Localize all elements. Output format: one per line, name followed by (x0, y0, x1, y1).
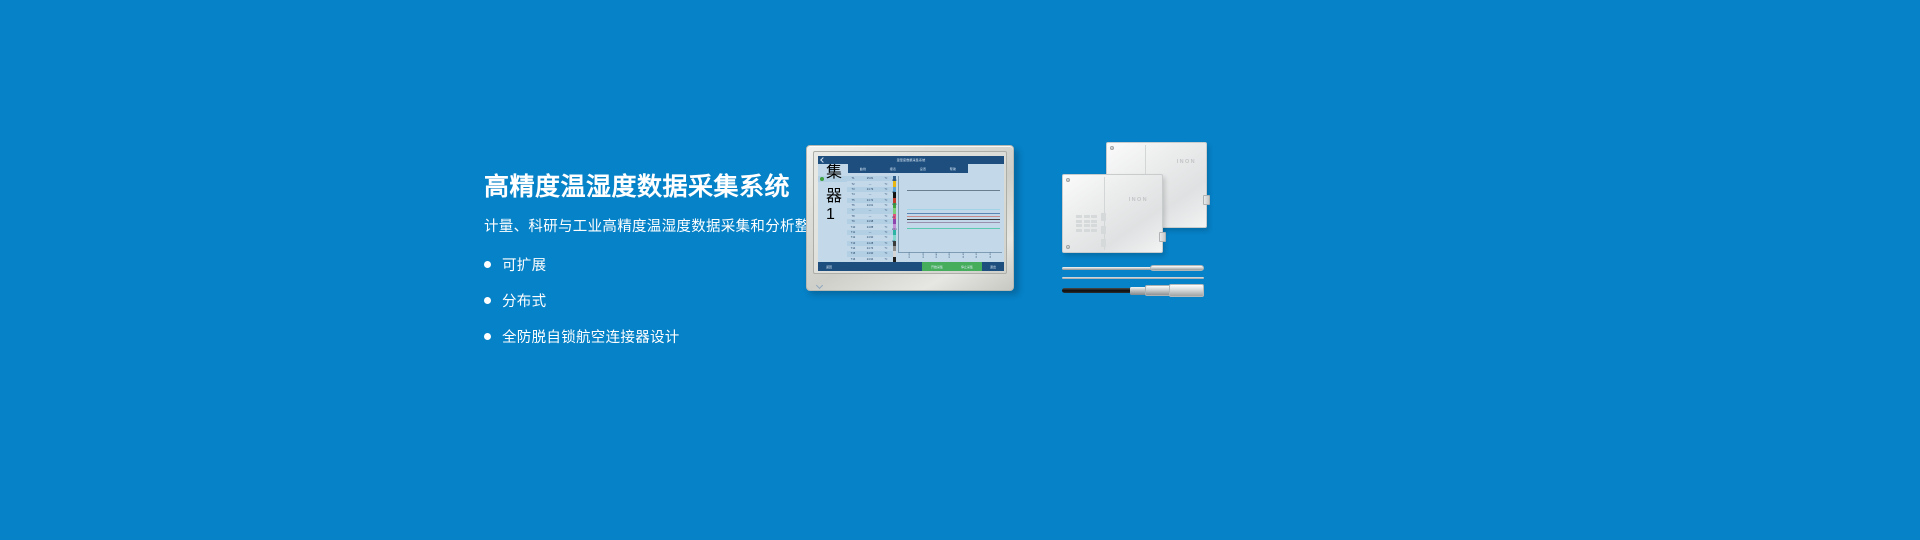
screen-action-bar: 返回 开始采集 停止采集 退出 (818, 262, 1004, 271)
cell-unit: ℃ (881, 204, 891, 207)
device-foot (813, 281, 1007, 290)
cell-value: 24.94 (859, 258, 881, 261)
x-axis-tick: 10:30 (923, 253, 925, 258)
cell-value: — (859, 183, 881, 186)
start-acquisition-button[interactable]: 开始采集 (922, 262, 952, 271)
tab-settings[interactable]: 设置 (908, 164, 938, 173)
cell-unit: ℃ (881, 209, 891, 212)
cell-channel: T3 (847, 188, 859, 191)
y-axis-tick: 25.1 (892, 179, 897, 182)
cell-value: 24.88 (859, 226, 881, 229)
screw-icon (1066, 245, 1070, 249)
y-axis-tick: 24 (892, 216, 895, 219)
cell-value: 25.81 (859, 177, 881, 180)
cell-unit: ℃ (881, 193, 891, 196)
feature-label: 分布式 (502, 290, 546, 311)
cell-channel: T7 (847, 209, 859, 212)
cell-unit: ℃ (881, 183, 891, 186)
cell-channel: T4 (847, 193, 859, 196)
sensor-cable (1062, 276, 1204, 280)
cell-unit: ℃ (881, 231, 891, 234)
cell-unit: ℃ (881, 199, 891, 202)
tree-item-label: 采集器 1 (826, 156, 847, 224)
device-inner-frame: 温湿度数据采集系统 监控 曲线 报表 设置 帮助 采集器 1 (813, 151, 1007, 274)
hardware-group: INON INON (1062, 142, 1207, 297)
screen-titlebar: 温湿度数据采集系统 (818, 156, 1004, 164)
trend-line (907, 219, 1000, 220)
cell-value: 24.73 (859, 247, 881, 250)
trend-line (907, 209, 1000, 210)
trend-chart: 25.12524.12423.12310:2010:3010:4010:5011… (898, 176, 1002, 253)
status-ok-icon (820, 177, 824, 181)
cell-value: 24.79 (859, 188, 881, 191)
cell-unit: ℃ (881, 252, 891, 255)
aviation-connector-cable (1062, 284, 1204, 297)
x-axis-tick: 11:10 (976, 253, 978, 258)
cell-unit: ℃ (881, 220, 891, 223)
cell-value: 24.98 (859, 220, 881, 223)
exit-button[interactable]: 退出 (982, 262, 1004, 271)
trend-line (907, 190, 1000, 191)
list-item: 全防脱自锁航空连接器设计 (484, 326, 904, 347)
cell-value: 24.90 (859, 252, 881, 255)
cell-unit: ℃ (881, 188, 891, 191)
cell-value: 24.28 (859, 242, 881, 245)
cell-channel: T15 (847, 252, 859, 255)
stop-acquisition-button[interactable]: 停止采集 (952, 262, 982, 271)
trend-line (907, 216, 1000, 217)
feature-label: 可扩展 (502, 254, 546, 275)
cell-value: 24.61 (859, 204, 881, 207)
cell-value: — (859, 193, 881, 196)
screen-device-tree: 采集器 1 (818, 173, 847, 262)
bullet-dot-icon (484, 333, 491, 340)
y-axis-tick: 24.1 (892, 203, 897, 206)
probe-tip (1150, 265, 1204, 271)
feature-label: 全防脱自锁航空连接器设计 (502, 326, 680, 347)
connector-shell (1169, 284, 1204, 297)
cell-unit: ℃ (881, 258, 891, 261)
cable-line (1062, 277, 1204, 279)
product-banner: 高精度温湿度数据采集系统 计量、科研与工业高精度温湿度数据采集和分析整体解决方案… (0, 0, 1920, 540)
cell-unit: ℃ (881, 242, 891, 245)
temperature-probe (1062, 264, 1204, 272)
trend-line (907, 228, 1000, 229)
tree-item-collector[interactable]: 采集器 1 (818, 176, 847, 182)
module-connector-icon (1203, 195, 1210, 205)
cell-channel: T16 (847, 258, 859, 261)
cell-channel: T13 (847, 242, 859, 245)
screen-app-title: 温湿度数据采集系统 (818, 158, 1004, 162)
module-brand-label: INON (1177, 159, 1196, 165)
cell-channel: T1 (847, 177, 859, 180)
y-axis-tick: 23.1 (892, 228, 897, 231)
back-button[interactable]: 返回 (818, 262, 840, 271)
bullet-dot-icon (484, 297, 491, 304)
port-label-grid (1101, 213, 1106, 247)
action-bar-spacer (840, 262, 922, 271)
brand-mark-icon (816, 282, 823, 289)
cell-unit: ℃ (881, 226, 891, 229)
screw-icon (1110, 146, 1114, 150)
channel-table: T125.81℃T2—℃T324.79℃T4—℃T524.72℃T624.61℃… (847, 173, 893, 262)
x-axis-tick: 10:40 (936, 253, 938, 258)
cell-channel: T11 (847, 231, 859, 234)
x-axis-tick: 11:00 (963, 253, 965, 258)
tab-bar-filler (968, 164, 1004, 173)
trend-line (907, 222, 1000, 223)
cell-value: — (859, 231, 881, 234)
screen-body: 采集器 1 T125.81℃T2—℃T324.79℃T4—℃T524.72℃T6… (818, 173, 1004, 262)
probe-rod (1062, 267, 1154, 270)
cell-value: — (859, 215, 881, 218)
x-axis-tick: 10:50 (949, 253, 951, 258)
connector-ferrule (1130, 287, 1146, 295)
tab-help[interactable]: 帮助 (938, 164, 968, 173)
acquisition-module-front: INON (1062, 174, 1163, 253)
cell-channel: T14 (847, 247, 859, 250)
cell-channel: T5 (847, 199, 859, 202)
cell-channel: T9 (847, 220, 859, 223)
panel-pc-device: 温湿度数据采集系统 监控 曲线 报表 设置 帮助 采集器 1 (806, 145, 1019, 294)
y-axis-tick: 23 (892, 240, 895, 243)
tab-curve[interactable]: 曲线 (848, 164, 878, 173)
module-connector-icon (1159, 232, 1166, 242)
screw-icon (1066, 178, 1070, 182)
cell-value: — (859, 209, 881, 212)
x-axis-tick: 10:20 (909, 253, 911, 258)
trend-line (907, 213, 1000, 214)
x-axis-tick: 11:20 (990, 253, 992, 258)
cell-channel: T8 (847, 215, 859, 218)
cell-channel: T6 (847, 204, 859, 207)
cell-value: 24.72 (859, 199, 881, 202)
cable-jacket (1062, 288, 1134, 293)
cell-unit: ℃ (881, 236, 891, 239)
connector-barrel (1145, 285, 1171, 296)
cell-value: 24.90 (859, 236, 881, 239)
cell-unit: ℃ (881, 247, 891, 250)
channel-color-legend (893, 176, 896, 262)
y-axis-tick: 25 (892, 191, 895, 194)
bullet-dot-icon (484, 261, 491, 268)
cell-channel: T10 (847, 226, 859, 229)
cell-channel: T2 (847, 183, 859, 186)
cell-unit: ℃ (881, 215, 891, 218)
cell-unit: ℃ (881, 177, 891, 180)
device-screen: 温湿度数据采集系统 监控 曲线 报表 设置 帮助 采集器 1 (818, 156, 1004, 271)
tab-report[interactable]: 报表 (878, 164, 908, 173)
cell-channel: T12 (847, 236, 859, 239)
module-brand-label: INON (1129, 197, 1148, 203)
terminal-label-grid (1076, 215, 1097, 232)
